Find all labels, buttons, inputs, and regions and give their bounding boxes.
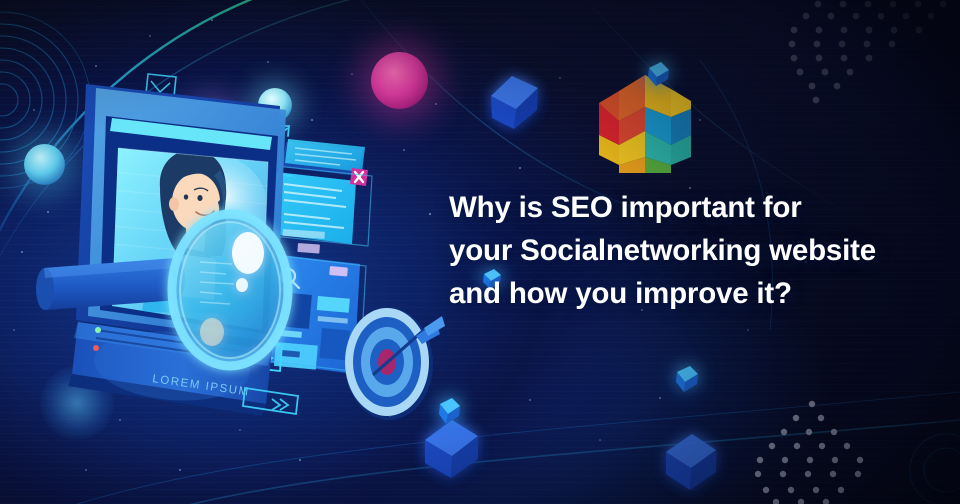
headline-line-3: and how you improve it?	[449, 272, 929, 315]
headline-line-1: Why is SEO important for	[449, 186, 929, 229]
headline-line-2: your Socialnetworking website	[449, 229, 929, 272]
page-title: Why is SEO important for your Socialnetw…	[449, 186, 929, 315]
seo-banner: LOREM IPSUM	[0, 0, 960, 504]
